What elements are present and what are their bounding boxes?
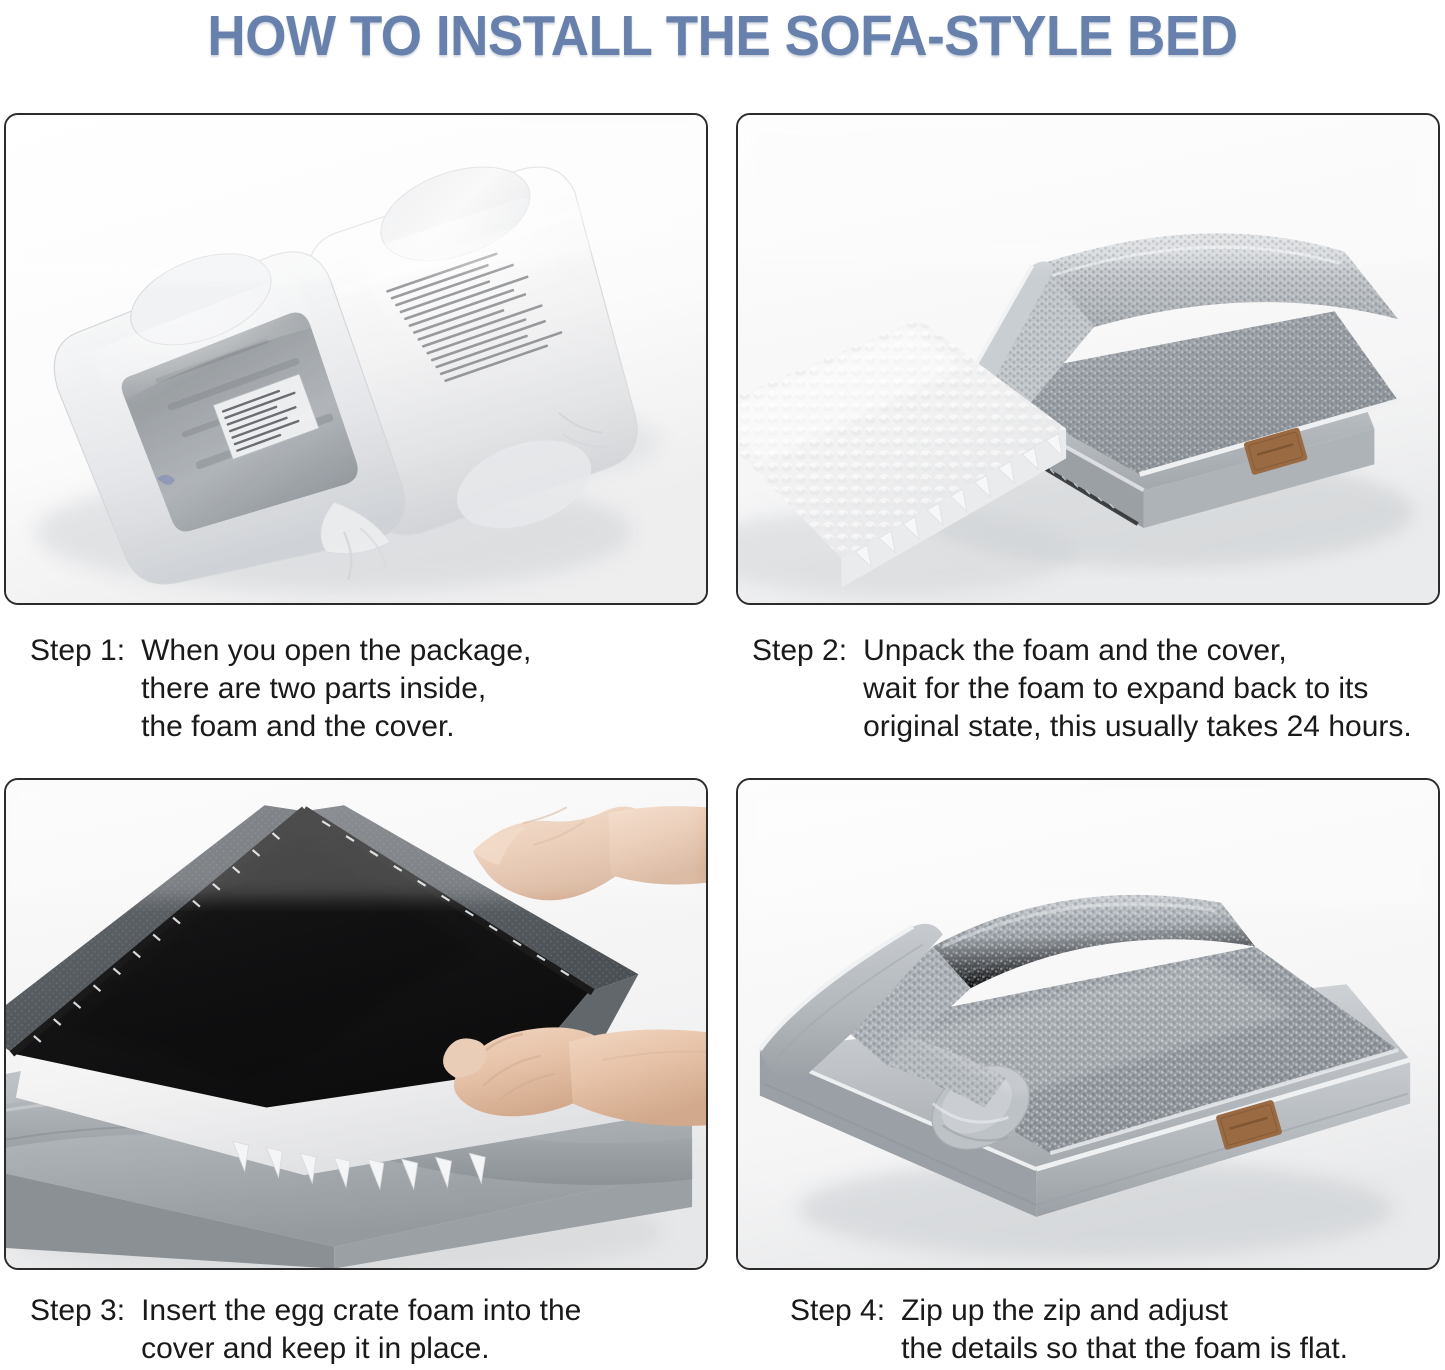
- step-4-image-panel: [736, 778, 1440, 1270]
- step-2-line-3: original state, this usually takes 24 ho…: [863, 708, 1442, 746]
- step-4-line-2: the details so that the foam is flat.: [901, 1330, 1440, 1368]
- step-3-line-1: Insert the egg crate foam into the: [141, 1292, 720, 1330]
- step-4-text: Zip up the zip and adjust the details so…: [901, 1292, 1440, 1368]
- step-2-line-1: Unpack the foam and the cover,: [863, 632, 1442, 670]
- step-1-caption: Step 1: When you open the package, there…: [30, 632, 720, 746]
- finished-bed-photo: [738, 780, 1438, 1268]
- step-4-caption: Step 4: Zip up the zip and adjust the de…: [790, 1292, 1440, 1368]
- step-1-label: Step 1:: [30, 632, 141, 670]
- packaged-rolls-photo: [6, 115, 706, 603]
- step-2-text: Unpack the foam and the cover, wait for …: [863, 632, 1442, 746]
- step-1-image-panel: [4, 113, 708, 605]
- step-2-line-2: wait for the foam to expand back to its: [863, 670, 1442, 708]
- step-3-label: Step 3:: [30, 1292, 141, 1330]
- step-3-caption: Step 3: Insert the egg crate foam into t…: [30, 1292, 720, 1368]
- step-1-line-3: the foam and the cover.: [141, 708, 720, 746]
- step-3-text: Insert the egg crate foam into the cover…: [141, 1292, 720, 1368]
- step-1-text: When you open the package, there are two…: [141, 632, 720, 746]
- step-4-line-1: Zip up the zip and adjust: [901, 1292, 1440, 1330]
- step-2-image-panel: [736, 113, 1440, 605]
- step-3-image-panel: [4, 778, 708, 1270]
- inserting-foam-photo: [6, 780, 706, 1268]
- unpacked-foam-and-cover-photo: [738, 115, 1438, 603]
- step-3-line-2: cover and keep it in place.: [141, 1330, 720, 1368]
- step-2-label: Step 2:: [752, 632, 863, 670]
- step-2-caption: Step 2: Unpack the foam and the cover, w…: [752, 632, 1442, 746]
- page-title: HOW TO INSTALL THE SOFA-STYLE BED: [51, 0, 1395, 72]
- step-4-label: Step 4:: [790, 1292, 901, 1330]
- step-1-line-2: there are two parts inside,: [141, 670, 720, 708]
- step-1-line-1: When you open the package,: [141, 632, 720, 670]
